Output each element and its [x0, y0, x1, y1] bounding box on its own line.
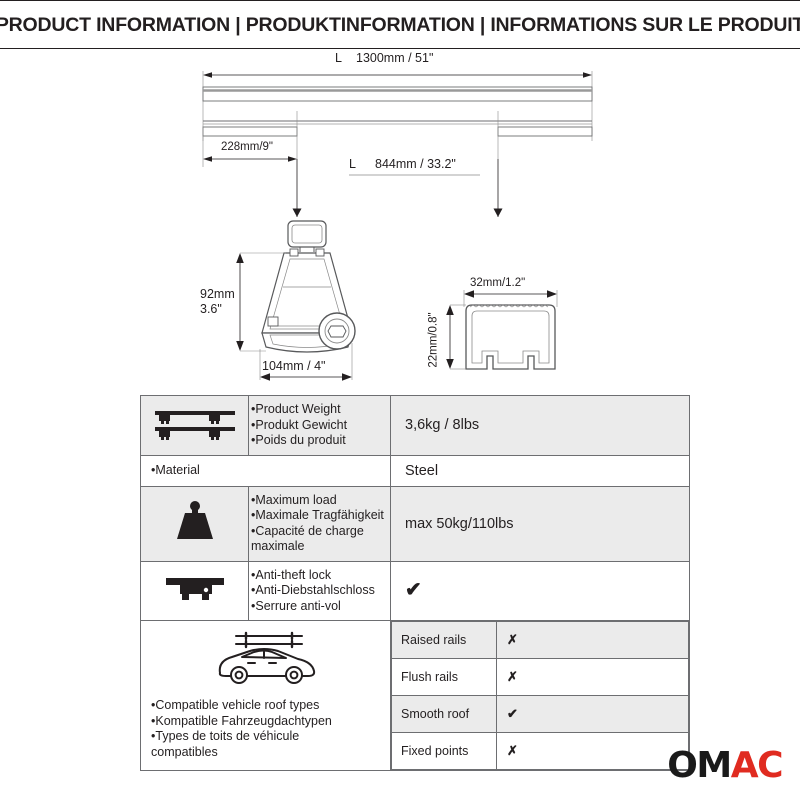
label-cell-maximum-load: •Maximum load •Maximale Tragfähigkeit •C…	[249, 486, 391, 561]
omac-logo: OMAC	[667, 748, 782, 784]
dimension-foot-width: 104mm / 4"	[262, 359, 326, 373]
value-cell-material: Steel	[391, 455, 690, 486]
product-weight-value: 3,6kg / 8lbs	[405, 417, 479, 433]
dimension-profile-width: 32mm/1.2"	[470, 277, 525, 289]
maximum-load-value: max 50kg/110lbs	[405, 516, 514, 532]
product-information-page: PRODUCT INFORMATION | PRODUKTINFORMATION…	[0, 0, 800, 800]
label-cell-product-weight: •Product Weight •Produkt Gewicht •Poids …	[249, 396, 391, 456]
label-line: •Compatible vehicle roof types	[151, 698, 382, 714]
technical-drawing-svg	[0, 49, 800, 389]
label-line: •Anti-theft lock	[251, 568, 386, 584]
roof-types-subtable-cell: Raised rails ✗ Flush rails ✗ Smooth roof…	[391, 621, 690, 771]
roof-type-row-raised-rails: Raised rails ✗	[392, 622, 689, 659]
dimension-profile-height: 22mm/0.8"	[428, 312, 440, 367]
roof-type-row-smooth-roof: Smooth roof ✔	[392, 696, 689, 733]
label-line: •Poids du produit	[251, 433, 386, 449]
value-cell-product-weight: 3,6kg / 8lbs	[391, 396, 690, 456]
label-cell-anti-theft-lock: •Anti-theft lock •Anti-Diebstahlschloss …	[249, 561, 391, 621]
roof-type-mark: ✔	[497, 696, 689, 733]
page-title-bar: PRODUCT INFORMATION | PRODUKTINFORMATION…	[0, 1, 800, 49]
specification-table: •Product Weight •Produkt Gewicht •Poids …	[140, 395, 690, 771]
label-line: •Capacité de charge maximale	[251, 524, 386, 555]
dimension-span-value: 844mm / 33.2"	[375, 157, 456, 171]
label-line: •Maximale Tragfähigkeit	[251, 508, 386, 524]
table-row-anti-theft-lock: •Anti-theft lock •Anti-Diebstahlschloss …	[141, 561, 690, 621]
table-row-maximum-load: •Maximum load •Maximale Tragfähigkeit •C…	[141, 486, 690, 561]
dimension-foot-offset: 228mm/9"	[221, 141, 273, 153]
label-line: •Maximum load	[251, 493, 386, 509]
car-with-roof-rack-icon	[206, 629, 326, 689]
lock-icon-cell	[141, 561, 249, 621]
label-line: •Types de toits de véhicule	[151, 729, 382, 745]
value-cell-anti-theft-lock: ✔	[391, 561, 690, 621]
logo-text-dark: OM	[667, 745, 730, 786]
roof-type-name: Flush rails	[392, 659, 497, 696]
table-row-compatible-roof-types: •Compatible vehicle roof types •Kompatib…	[141, 621, 690, 771]
dimension-foot-height-mm: 92mm	[200, 287, 235, 301]
label-cell-material: •Material	[141, 455, 391, 486]
material-value: Steel	[405, 463, 438, 479]
page-title: PRODUCT INFORMATION | PRODUKTINFORMATION…	[0, 14, 800, 37]
dimension-bar-length-prefix: L	[335, 51, 342, 65]
technical-drawing: L 1300mm / 51" 228mm/9" L 844mm / 33.2" …	[0, 49, 800, 389]
roof-type-mark: ✗	[497, 622, 689, 659]
roof-type-name: Fixed points	[392, 733, 497, 770]
roof-types-table: Raised rails ✗ Flush rails ✗ Smooth roof…	[391, 621, 689, 770]
label-line: •Material	[151, 463, 200, 477]
dimension-span-prefix: L	[349, 157, 356, 171]
label-line: •Anti-Diebstahlschloss	[251, 583, 386, 599]
label-line: •Produkt Gewicht	[251, 418, 386, 434]
dimension-bar-length-value: 1300mm / 51"	[356, 51, 433, 65]
weight-icon-cell	[141, 486, 249, 561]
anti-theft-check-mark: ✔	[405, 579, 422, 601]
roof-type-name: Smooth roof	[392, 696, 497, 733]
label-line: •Product Weight	[251, 402, 386, 418]
label-line: compatibles	[151, 745, 382, 761]
roof-type-mark: ✗	[497, 733, 689, 770]
roof-type-name: Raised rails	[392, 622, 497, 659]
table-row-product-weight: •Product Weight •Produkt Gewicht •Poids …	[141, 396, 690, 456]
lock-icon	[162, 572, 228, 604]
roof-type-row-flush-rails: Flush rails ✗	[392, 659, 689, 696]
roof-type-mark: ✗	[497, 659, 689, 696]
weight-icon	[167, 499, 223, 543]
logo-text-accent: AC	[731, 745, 782, 786]
dimension-foot-height-in: 3.6"	[200, 302, 222, 316]
value-cell-maximum-load: max 50kg/110lbs	[391, 486, 690, 561]
roof-type-row-fixed-points: Fixed points ✗	[392, 733, 689, 770]
crossbars-icon	[153, 405, 237, 441]
table-row-material: •Material Steel	[141, 455, 690, 486]
roof-types-label-cell: •Compatible vehicle roof types •Kompatib…	[141, 621, 391, 771]
crossbars-icon-cell	[141, 396, 249, 456]
label-line: •Serrure anti-vol	[251, 599, 386, 615]
label-line: •Kompatible Fahrzeugdachtypen	[151, 714, 382, 730]
